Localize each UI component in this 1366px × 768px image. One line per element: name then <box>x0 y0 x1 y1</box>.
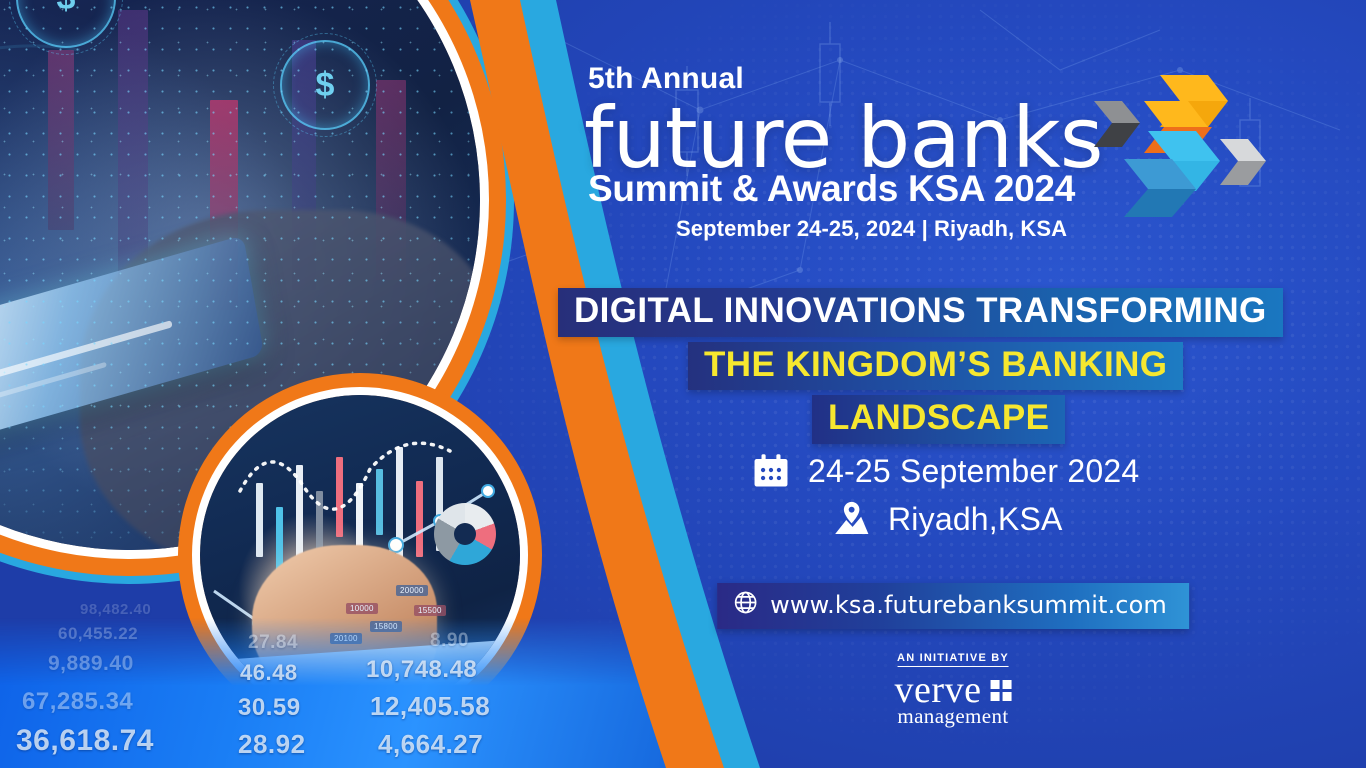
event-details: 24-25 September 2024 Riyadh,KSA <box>540 452 1366 538</box>
website-pill[interactable]: www.ksa.futurebanksummit.com <box>717 583 1189 629</box>
organizer-name: verve <box>895 672 982 708</box>
headline-line-2: THE KINGDOM’S BANKING <box>688 342 1183 391</box>
event-date-row: 24-25 September 2024 <box>752 452 1366 490</box>
event-location-text: Riyadh,KSA <box>888 501 1063 538</box>
event-date-text: 24-25 September 2024 <box>808 453 1139 490</box>
website-url: www.ksa.futurebanksummit.com <box>770 591 1167 619</box>
globe-icon <box>733 590 758 620</box>
organizer-descriptor: management <box>895 704 1012 729</box>
calendar-icon <box>752 452 790 490</box>
event-dateline: September 24-25, 2024 | Riyadh, KSA <box>676 216 1067 242</box>
initiative-label: AN INITIATIVE BY <box>897 652 1009 667</box>
event-location-row: Riyadh,KSA <box>832 500 1366 538</box>
four-squares-icon <box>990 680 1011 701</box>
organizer-logo: AN INITIATIVE BY verve management <box>895 648 1012 729</box>
content-panel: 5th Annual future banks Summit & Awards … <box>540 0 1366 768</box>
event-banner: $ $ $ <box>0 0 1366 768</box>
map-pin-icon <box>832 500 870 538</box>
future-banks-chevron-logo <box>1088 65 1268 225</box>
headline-block: DIGITAL INNOVATIONS TRANSFORMING THE KIN… <box>540 288 1366 444</box>
event-subtitle: Summit & Awards KSA 2024 <box>588 168 1075 210</box>
headline-line-1: DIGITAL INNOVATIONS TRANSFORMING <box>558 288 1283 337</box>
headline-line-3: LANDSCAPE <box>812 395 1065 444</box>
